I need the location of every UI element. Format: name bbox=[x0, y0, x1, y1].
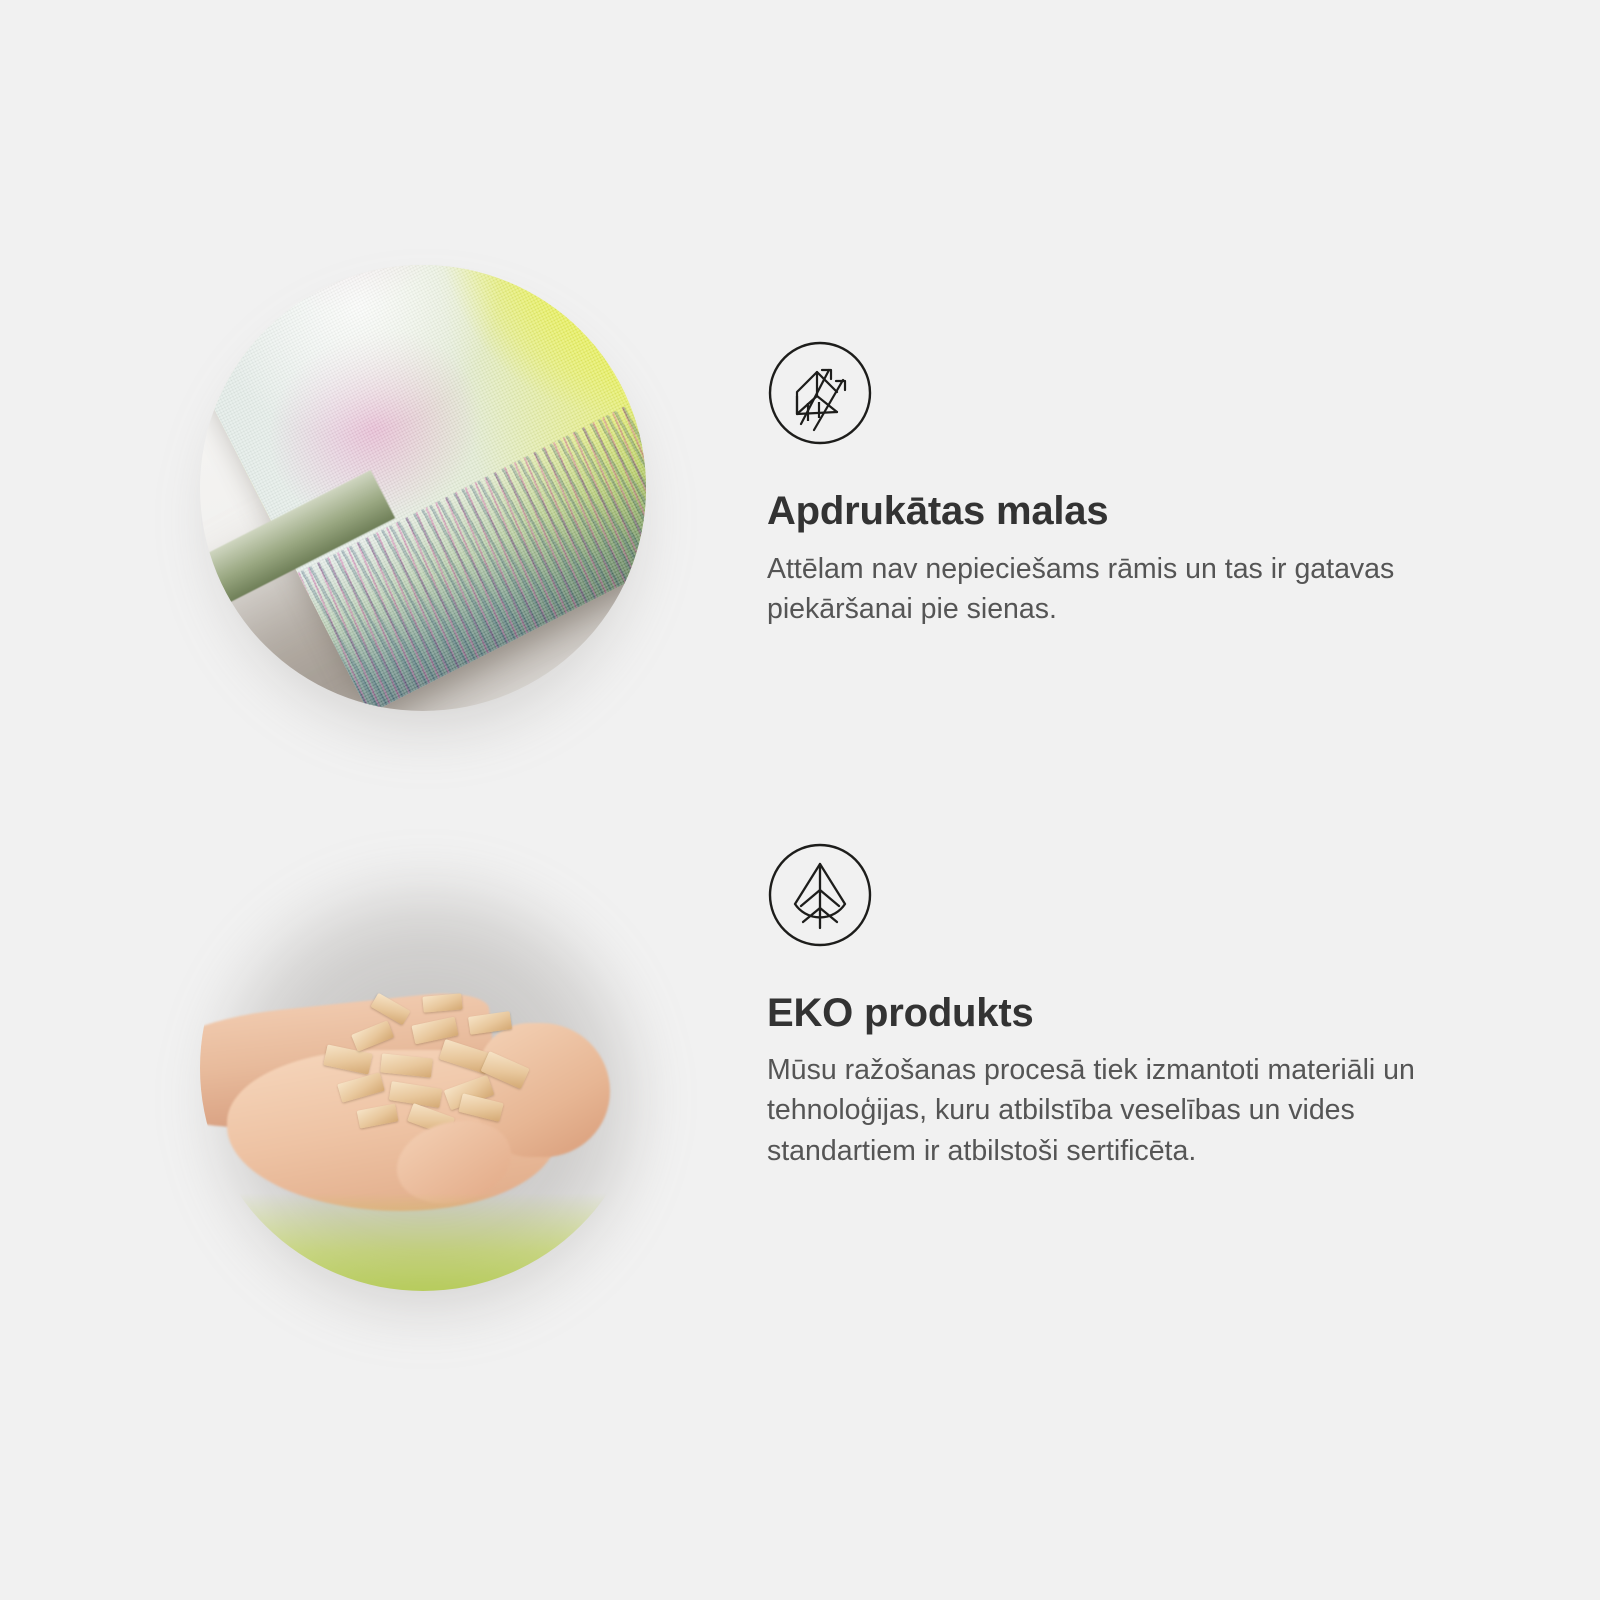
wood-chip-pile bbox=[316, 979, 548, 1140]
wood-chips-in-hands-photo bbox=[200, 845, 646, 1291]
feature-description: Mūsu ražošanas procesā tiek izmantoti ma… bbox=[767, 1050, 1477, 1171]
eco-photo-illustration bbox=[200, 845, 646, 1291]
feature-block-printed-edges: Apdrukātas malas Attēlam nav nepieciešam… bbox=[0, 240, 1600, 800]
feature-description: Attēlam nav nepieciešams rāmis un tas ir… bbox=[767, 549, 1457, 630]
feature-block-eco-product: EKO produkts Mūsu ražošanas procesā tiek… bbox=[0, 820, 1600, 1380]
feature-text-column: EKO produkts Mūsu ražošanas procesā tiek… bbox=[767, 842, 1487, 1171]
photo-circle-mask bbox=[200, 265, 646, 711]
canvas-corner-illustration bbox=[200, 265, 646, 711]
background-grass bbox=[200, 1193, 646, 1291]
leaf-icon bbox=[767, 842, 873, 948]
feature-text-column: Apdrukātas malas Attēlam nav nepieciešam… bbox=[767, 340, 1487, 630]
photo-circle-mask bbox=[200, 845, 646, 1291]
canvas-corner-photo bbox=[200, 265, 646, 711]
feature-title: EKO produkts bbox=[767, 991, 1487, 1036]
printed-edges-icon bbox=[767, 340, 873, 446]
feature-infographic: Apdrukātas malas Attēlam nav nepieciešam… bbox=[0, 0, 1600, 1600]
feature-title: Apdrukātas malas bbox=[767, 489, 1487, 534]
